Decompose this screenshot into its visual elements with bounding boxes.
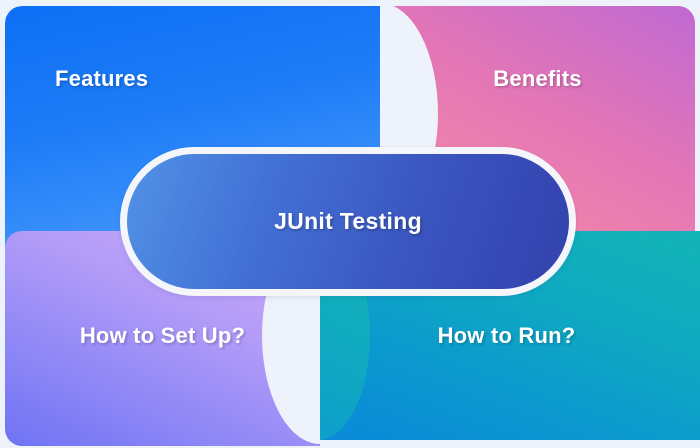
- center-node-label: JUnit Testing: [274, 208, 422, 235]
- branch-label-features: Features: [55, 66, 148, 92]
- branch-label-run: How to Run?: [438, 323, 576, 349]
- center-node[interactable]: JUnit Testing: [120, 147, 576, 296]
- branch-label-setup: How to Set Up?: [80, 323, 245, 349]
- branch-label-benefits: Benefits: [493, 66, 581, 92]
- mind-map-diagram: Features Benefits How to Set Up? How to …: [0, 0, 700, 448]
